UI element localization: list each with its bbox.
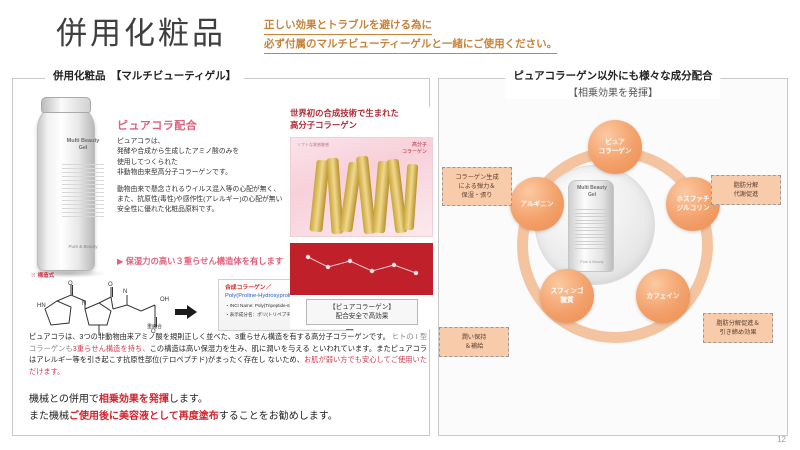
header-note-line2: 必ず付属のマルチビューティーゲルと一緒にご使用ください。 xyxy=(264,37,557,54)
header-note: 正しい効果とトラブルを避ける為に 必ず付属のマルチビューティーゲルと一緒にご使用… xyxy=(264,18,557,54)
tag-moisture-retention[interactable]: 潤い保持 ＆補給 xyxy=(439,327,509,357)
pure-body-para-2: 動物由来で懸念されるウイルス混入等の心配が無く、 また、抗原性(毒性)や感作性(… xyxy=(117,185,292,216)
tube-brand: Pure & Beauty xyxy=(62,244,104,249)
fiber-image-caption-left: ソフトな質感触感 xyxy=(297,142,329,148)
bottom-line-1: 機械との併用で相乗効果を発揮します。 xyxy=(29,391,427,408)
svg-text:O: O xyxy=(108,282,113,288)
center-tube-label: Multi Beauty Gel xyxy=(569,185,615,198)
pink-card-title: 世界初の合成技術で生まれた 高分子コラーゲン xyxy=(290,107,433,131)
svg-text:O: O xyxy=(68,281,73,287)
svg-text:OH: OH xyxy=(160,297,169,303)
collagen-fiber-image: ソフトな質感触感 高分子 コラーゲン xyxy=(290,137,433,237)
tube-text-lines xyxy=(62,164,104,220)
bottom-line-2: また機械ご使用後に美容液として再度塗布することをお勧めします。 xyxy=(29,408,427,425)
pure-body-para-1: ピュアコラは、 発酵や合成から生成したアミノ酸のみを 使用してつくられた 非動物… xyxy=(117,137,292,179)
page-title: 併用化粧品 xyxy=(56,8,226,53)
structure-formula-tag: 構造式 xyxy=(31,271,54,279)
page-number: 12 xyxy=(777,435,786,444)
fiber-image-caption-right: 高分子 コラーゲン xyxy=(402,142,427,156)
tube-body: Multi Beauty Gel Pure & Beauty xyxy=(37,103,95,271)
node-pure-collagen[interactable]: ピュアコラーゲン xyxy=(588,120,642,174)
left-panel-heading: 併用化粧品 【マルチビューティゲル】 xyxy=(45,68,244,83)
molecular-chain-image xyxy=(290,243,433,295)
pure-collagen-body: ピュアコラは、 発酵や合成から生成したアミノ酸のみを 使用してつくられた 非動物… xyxy=(117,137,292,216)
para-1: ピュアコラは、3つの非動物由来アミノ酸を規則正しく並べた、3重らせん構造を有する… xyxy=(29,332,390,341)
svg-text:N: N xyxy=(123,289,127,295)
tag-fat-tightening[interactable]: 脂肪分解促進＆ 引き締め効果 xyxy=(703,313,773,343)
molecule-chain-svg xyxy=(290,243,433,295)
pure-collagen-title: ピュアコラ配合 xyxy=(117,117,197,133)
polycondensation-label: 重縮合 xyxy=(147,323,162,330)
tag-fat-metabolism[interactable]: 脂肪分解 代謝促進 xyxy=(711,175,781,205)
para-4-head: ないため、 xyxy=(268,355,304,364)
node-caffeine[interactable]: カフェイン xyxy=(636,269,690,323)
pure-collagen-caption: 【ピュアコラーゲン】 配合安全で高効果 xyxy=(306,299,418,325)
node-sphingo[interactable]: スフィンゴ糖質 xyxy=(540,269,594,323)
left-panel: 併用化粧品 【マルチビューティゲル】 Multi Beauty Gel Pure… xyxy=(12,78,430,436)
para-2-red: 3重らせん構造を持ち、 xyxy=(73,344,150,353)
right-panel: ピュアコラーゲン以外にも様々な成分配合 【相乗効果を発揮】 Multi Beau… xyxy=(438,78,788,436)
center-tube: Multi Beauty Gel Pure & Beauty xyxy=(568,180,614,272)
para-2-rest: この構造は高い保湿力を生み、肌に潤いを与える xyxy=(150,344,310,353)
tube-label: Multi Beauty Gel xyxy=(62,138,104,152)
collagen-pink-card: 世界初の合成技術で生まれた 高分子コラーゲン ソフトな質感触感 高分子 コラーゲ… xyxy=(290,107,433,329)
triple-helix-bullet: ▶ 保湿力の高い３重らせん構造体を有します xyxy=(117,255,283,267)
svg-text:HN: HN xyxy=(37,303,46,309)
tube-cap xyxy=(41,97,91,113)
svg-text:N: N xyxy=(82,301,86,307)
right-panel-heading: ピュアコラーゲン以外にも様々な成分配合 【相乗効果を発揮】 xyxy=(505,68,720,99)
bottom-recommendation: 機械との併用で相乗効果を発揮します。 また機械ご使用後に美容液として再度塗布する… xyxy=(29,391,427,425)
product-tube-image: Multi Beauty Gel Pure & Beauty xyxy=(21,97,113,282)
description-paragraph: ピュアコラは、3つの非動物由来アミノ酸を規則正しく並べた、3重らせん構造を有する… xyxy=(29,331,427,377)
center-tube-lines xyxy=(575,209,609,251)
tag-collagen-elasticity[interactable]: コラーゲン生成 による弾力＆ 保湿・張り xyxy=(442,167,512,206)
slide-root: 併用化粧品 正しい効果とトラブルを避ける為に 必ず付属のマルチビューティーゲルと… xyxy=(0,0,800,450)
header-note-line1: 正しい効果とトラブルを避ける為に xyxy=(264,18,432,35)
center-tube-brand: Pure & Beauty xyxy=(569,260,615,264)
node-arginine[interactable]: アルギニン xyxy=(510,177,564,231)
